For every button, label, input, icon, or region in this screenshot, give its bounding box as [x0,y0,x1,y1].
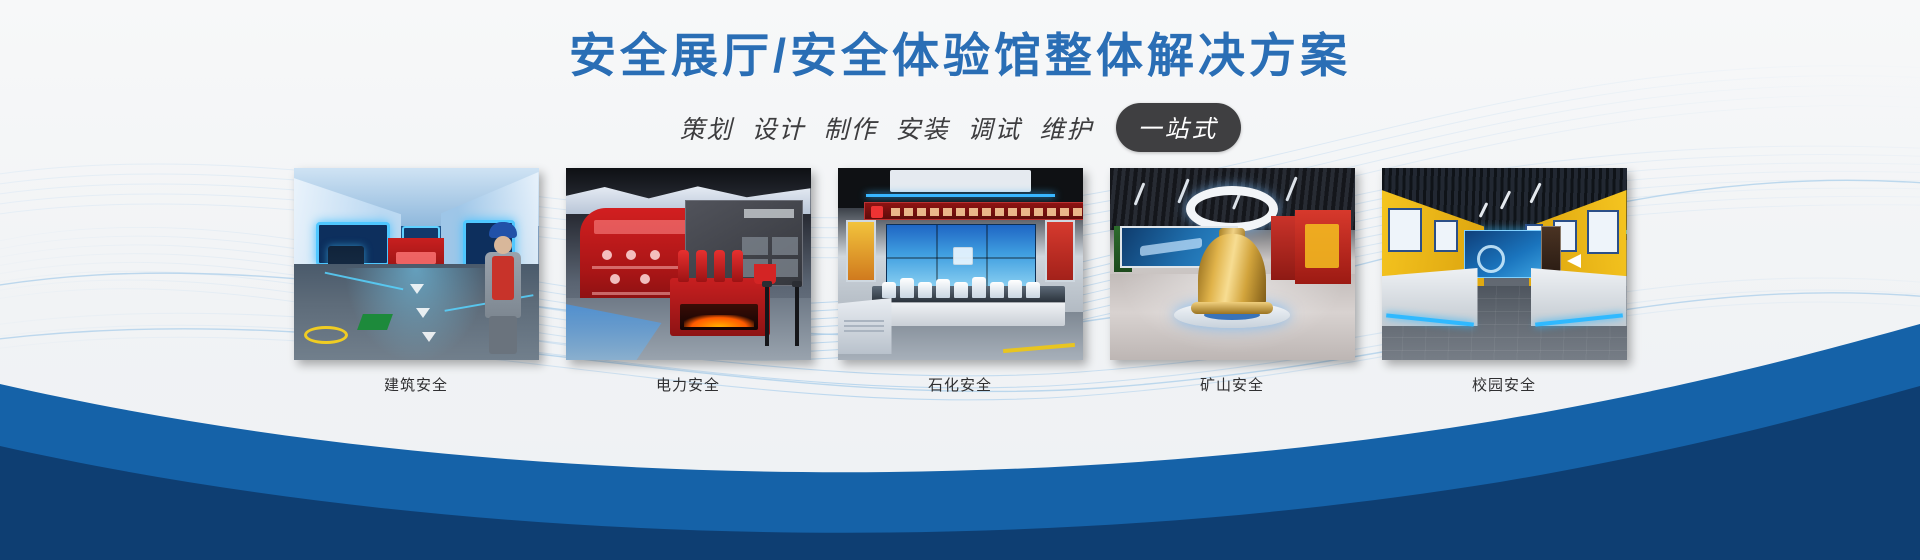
card-caption: 校园安全 [1382,374,1627,395]
card-caption: 建筑安全 [294,374,539,395]
solution-card-construction[interactable]: 建筑安全 [294,168,539,395]
solution-card-mine[interactable]: 矿山安全 [1110,168,1355,395]
one-stop-badge: 一站式 [1116,103,1241,152]
scene-petrochemical-safety-hall [838,168,1083,360]
scene-construction-safety-hall [294,168,539,360]
service-step-design: 设计 [751,110,805,146]
page-title: 安全展厅/安全体验馆整体解决方案 [0,28,1920,83]
solution-card-petrochemical[interactable]: 石化安全 [838,168,1083,395]
scene-electrical-safety-hall [566,168,811,360]
banner-heading: 安全展厅/安全体验馆整体解决方案 策划 设计 制作 安装 调试 维护 一站式 [0,0,1920,152]
card-caption: 石化安全 [838,374,1083,395]
thumbnail-construction-safety[interactable] [294,168,539,360]
service-step-installation: 安装 [896,110,950,146]
solution-card-campus[interactable]: 校园安全 [1382,168,1627,395]
service-step-planning: 策划 [679,110,733,146]
solution-card-electrical[interactable]: 电力安全 [566,168,811,395]
safety-exhibition-banner: 安全展厅/安全体验馆整体解决方案 策划 设计 制作 安装 调试 维护 一站式 [0,0,1920,560]
thumbnail-electrical-safety[interactable] [566,168,811,360]
scene-campus-safety-hall [1382,168,1627,360]
card-caption: 矿山安全 [1110,374,1355,395]
solution-card-list: 建筑安全 电力安 [0,168,1920,395]
service-step-commissioning: 调试 [968,110,1022,146]
thumbnail-campus-safety[interactable] [1382,168,1627,360]
service-step-maintenance: 维护 [1040,110,1094,146]
service-steps: 策划 设计 制作 安装 调试 维护 一站式 [0,103,1920,152]
service-step-production: 制作 [823,110,877,146]
thumbnail-mine-safety[interactable] [1110,168,1355,360]
scene-mine-safety-hall [1110,168,1355,360]
card-caption: 电力安全 [566,374,811,395]
thumbnail-petrochemical-safety[interactable] [838,168,1083,360]
